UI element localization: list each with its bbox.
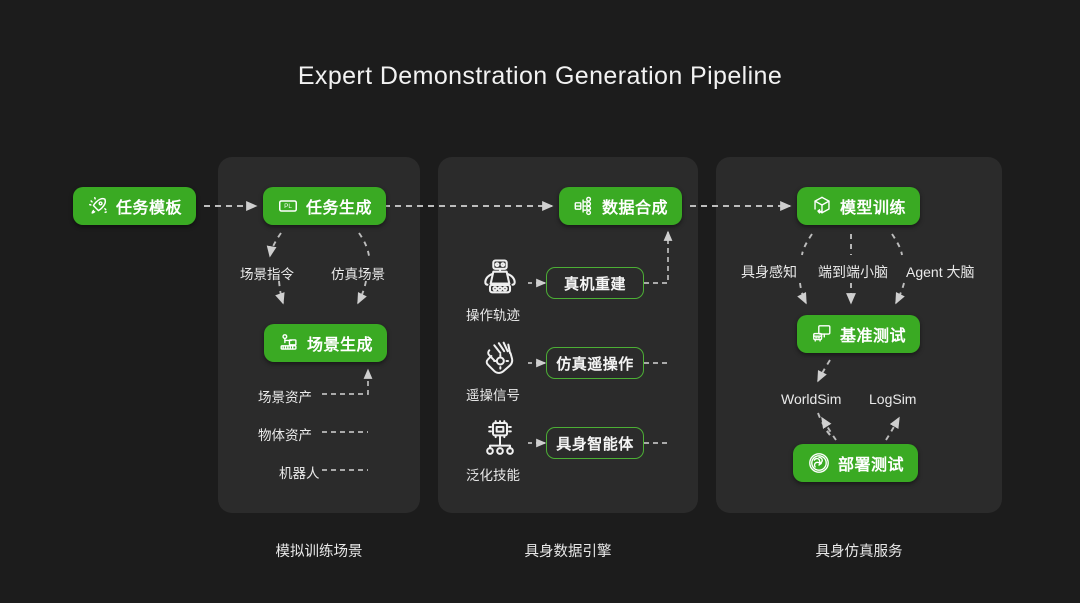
chip-benchmark-test[interactable]: 基准测试 xyxy=(797,315,920,353)
label-teleop-signal: 遥操信号 xyxy=(466,384,520,404)
cube-train-icon xyxy=(811,195,833,217)
label-worldsim: WorldSim xyxy=(781,391,841,407)
diagram-canvas: Expert Demonstration Generation Pipeline xyxy=(0,0,1080,603)
box-label: 仿真遥操作 xyxy=(556,353,634,374)
caption-panel-2: 具身数据引擎 xyxy=(438,540,698,561)
benchmark-screen-icon xyxy=(811,323,833,345)
label-generalization-skill: 泛化技能 xyxy=(466,464,520,484)
rocket-icon xyxy=(87,195,109,217)
label-object-assets: 物体资产 xyxy=(258,424,312,444)
robot-icon xyxy=(478,258,522,303)
circular-swirl-icon xyxy=(807,451,831,475)
chip-task-generation[interactable]: PL 任务生成 xyxy=(263,187,386,225)
label-embodied-perception: 具身感知 xyxy=(741,262,797,282)
chip-label: 任务模板 xyxy=(116,194,182,218)
caption-panel-1: 模拟训练场景 xyxy=(218,540,420,561)
chip-label: 场景生成 xyxy=(307,331,373,355)
svg-text:PL: PL xyxy=(284,203,292,210)
ai-network-icon xyxy=(478,420,522,465)
chip-deployment-test[interactable]: 部署测试 xyxy=(793,444,918,482)
label-robot: 机器人 xyxy=(279,462,320,482)
glove-icon xyxy=(478,340,522,385)
chip-label: 数据合成 xyxy=(602,194,668,218)
label-e2e-cerebellum: 端到端小脑 xyxy=(818,262,888,282)
label-logsim: LogSim xyxy=(869,391,916,407)
chip-label: 任务生成 xyxy=(306,194,372,218)
box-label: 真机重建 xyxy=(564,273,626,294)
data-nodes-icon xyxy=(573,195,595,217)
label-scene-instruction: 场景指令 xyxy=(240,263,294,283)
label-sim-scene: 仿真场景 xyxy=(331,263,385,283)
chip-label: 基准测试 xyxy=(840,322,906,346)
chip-model-training[interactable]: 模型训练 xyxy=(797,187,920,225)
page-title: Expert Demonstration Generation Pipeline xyxy=(0,62,1080,91)
label-scene-assets: 场景资产 xyxy=(258,386,312,406)
caption-panel-3: 具身仿真服务 xyxy=(716,540,1002,561)
box-label: 具身智能体 xyxy=(556,433,634,454)
conveyor-robot-icon xyxy=(278,332,300,354)
box-sim-teleoperation[interactable]: 仿真遥操作 xyxy=(546,347,644,379)
chip-label: 部署测试 xyxy=(838,451,904,475)
pl-frame-icon: PL xyxy=(277,195,299,217)
box-real-machine-reconstruction[interactable]: 真机重建 xyxy=(546,267,644,299)
chip-label: 模型训练 xyxy=(840,194,906,218)
chip-data-synthesis[interactable]: 数据合成 xyxy=(559,187,682,225)
label-agent-brain: Agent 大脑 xyxy=(906,262,974,282)
label-operation-trajectory: 操作轨迹 xyxy=(466,304,520,324)
chip-task-template[interactable]: 任务模板 xyxy=(73,187,196,225)
box-embodied-agent[interactable]: 具身智能体 xyxy=(546,427,644,459)
chip-scene-generation[interactable]: 场景生成 xyxy=(264,324,387,362)
